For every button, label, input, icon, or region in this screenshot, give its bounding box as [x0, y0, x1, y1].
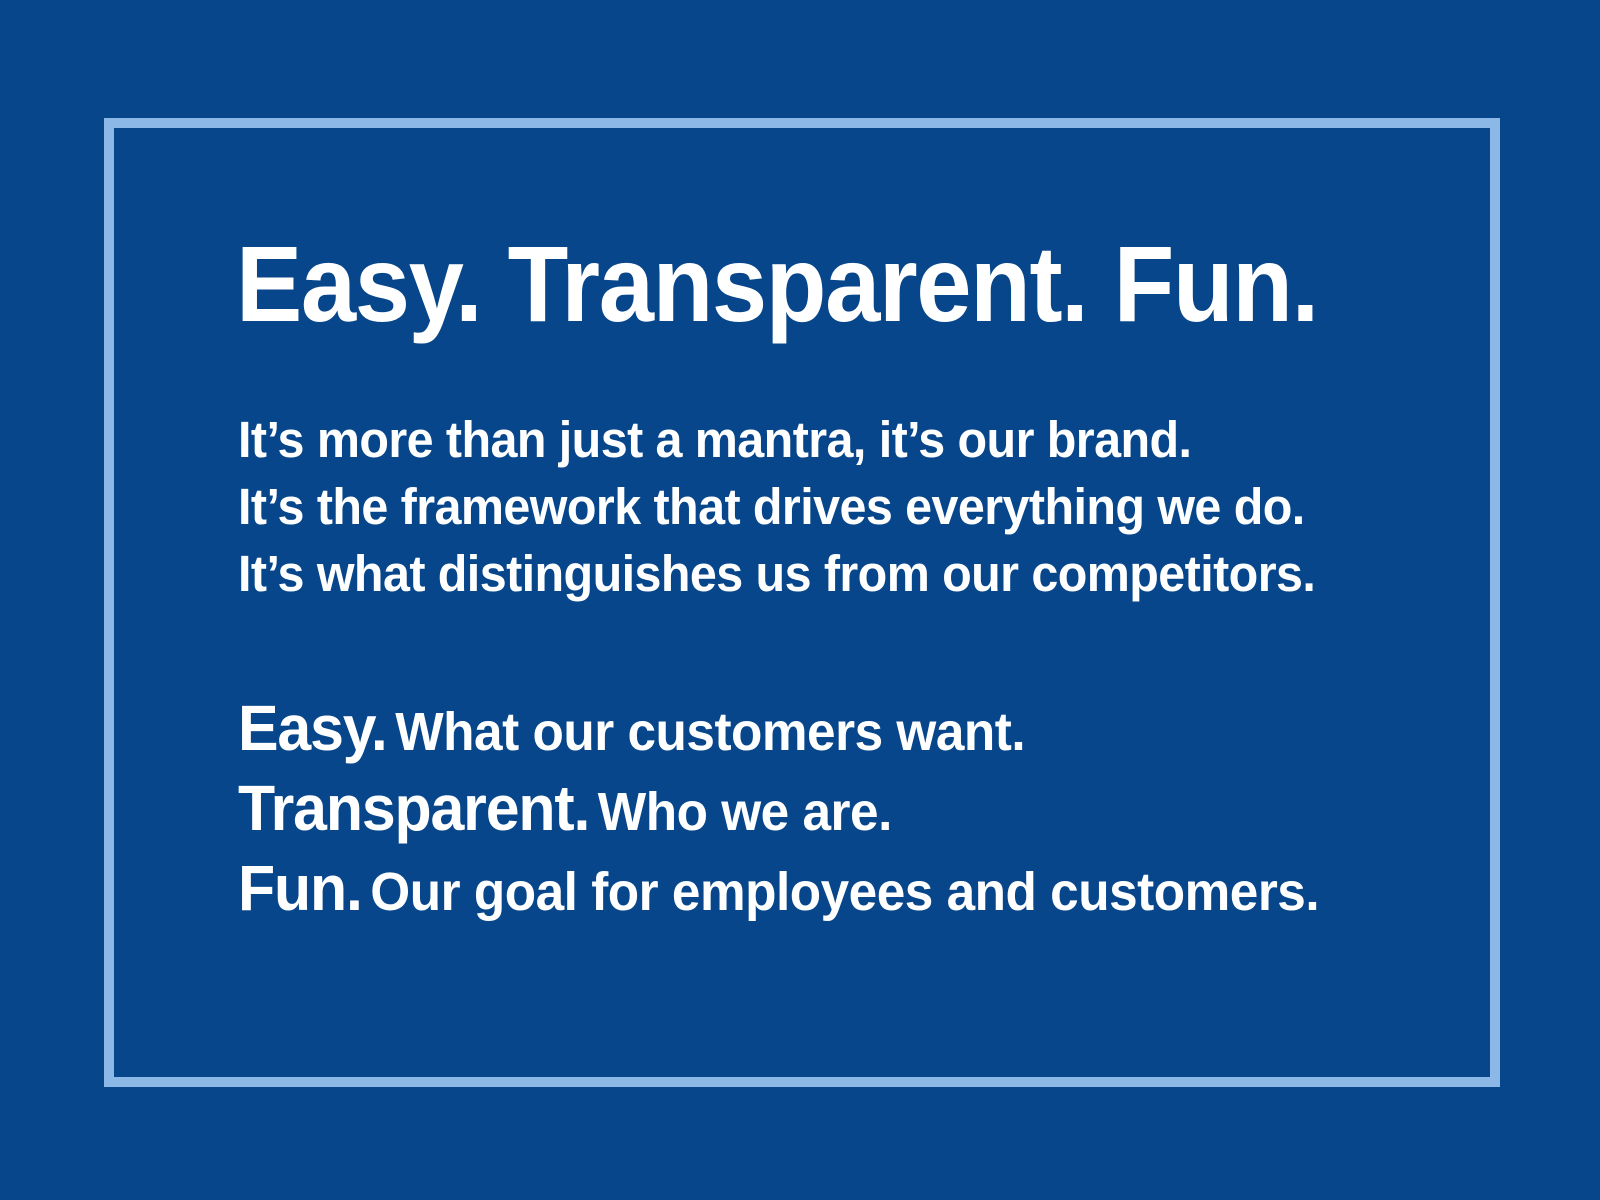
value-item-fun: Fun.Our goal for employees and customers… — [238, 848, 1319, 928]
value-description-transparent: Who we are. — [598, 782, 892, 842]
value-item-transparent: Transparent.Who we are. — [238, 768, 1319, 848]
value-term-fun: Fun. — [238, 852, 362, 924]
value-term-transparent: Transparent. — [238, 772, 589, 844]
slide-content: Easy. Transparent. Fun. It’s more than j… — [236, 118, 1416, 1087]
value-description-easy: What our customers want. — [395, 702, 1025, 762]
intro-line-3: It’s what distinguishes us from our comp… — [238, 540, 1315, 607]
brand-mantra-slide: Easy. Transparent. Fun. It’s more than j… — [0, 0, 1600, 1200]
value-item-easy: Easy.What our customers want. — [238, 688, 1319, 768]
value-description-fun: Our goal for employees and customers. — [370, 862, 1319, 922]
intro-line-1: It’s more than just a mantra, it’s our b… — [238, 406, 1315, 473]
value-definition-list: Easy.What our customers want. Transparen… — [238, 688, 1319, 928]
intro-paragraph: It’s more than just a mantra, it’s our b… — [238, 406, 1315, 607]
intro-line-2: It’s the framework that drives everythin… — [238, 473, 1315, 540]
value-term-easy: Easy. — [238, 692, 387, 764]
slide-headline: Easy. Transparent. Fun. — [236, 230, 1318, 338]
